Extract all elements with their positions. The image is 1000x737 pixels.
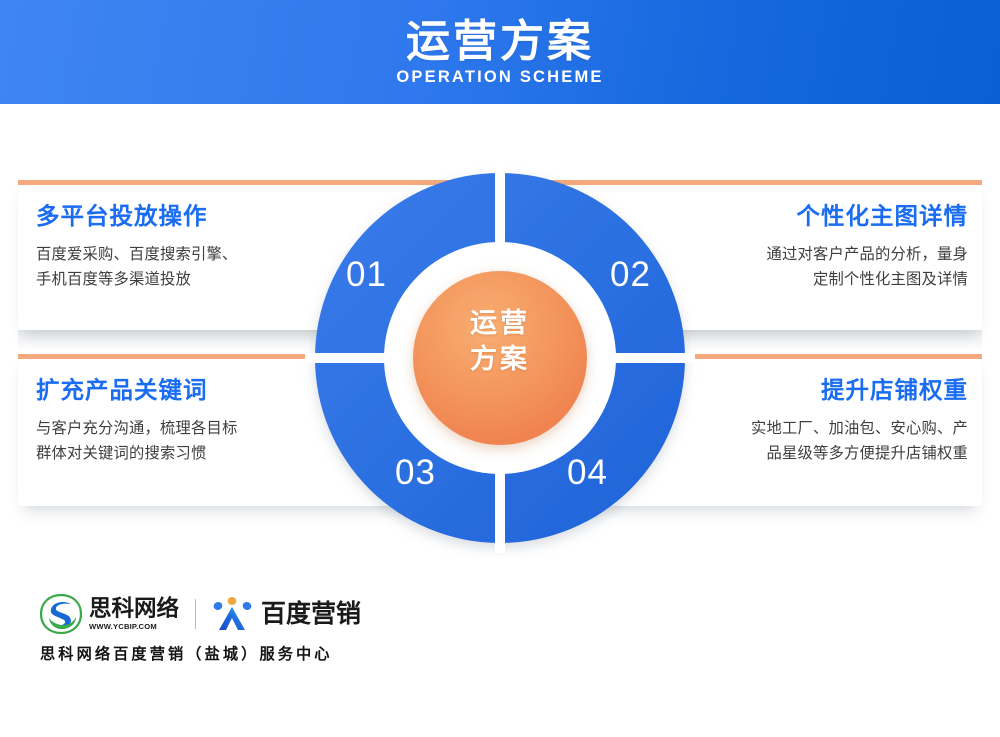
card-description-line: 定制个性化主图及详情 xyxy=(666,268,968,293)
diagram-stage: 多平台投放操作 百度爱采购、百度搜索引擎、 手机百度等多渠道投放 个性化主图详情… xyxy=(0,104,1000,737)
footer-branding: 思科网络 WWW.YCBIP.COM 百度营销 思科网络百度 xyxy=(40,592,470,664)
card-heading: 多平台投放操作 xyxy=(36,204,338,230)
sike-wordmark: 思科网络 WWW.YCBIP.COM xyxy=(89,597,179,631)
quadrant-number-03: 03 xyxy=(395,455,436,490)
quadrant-number-01: 01 xyxy=(346,257,387,292)
sike-brand-name: 思科网络 xyxy=(89,597,179,621)
sike-brand-url: WWW.YCBIP.COM xyxy=(89,622,179,631)
card-description-line: 手机百度等多渠道投放 xyxy=(36,268,338,293)
card-description-line: 与客户充分沟通，梳理各目标 xyxy=(36,417,338,442)
baidu-brand-name: 百度营销 xyxy=(261,602,361,627)
card-description: 通过对客户产品的分析，量身 定制个性化主图及详情 xyxy=(666,243,968,293)
card-body: 个性化主图详情 通过对客户产品的分析，量身 定制个性化主图及详情 xyxy=(666,204,968,292)
card-description-line: 通过对客户产品的分析，量身 xyxy=(666,243,968,268)
card-body: 多平台投放操作 百度爱采购、百度搜索引擎、 手机百度等多渠道投放 xyxy=(36,204,338,292)
card-description: 与客户充分沟通，梳理各目标 群体对关键词的搜索习惯 xyxy=(36,417,338,467)
donut-core-label: 运营 方案 xyxy=(450,305,550,378)
card-description-line: 百度爱采购、百度搜索引擎、 xyxy=(36,243,338,268)
footer-logo-row: 思科网络 WWW.YCBIP.COM 百度营销 xyxy=(40,592,470,636)
quadrant-number-02: 02 xyxy=(610,257,651,292)
quadrant-number-04: 04 xyxy=(567,455,608,490)
donut-diagram: 01 02 03 04 运营 方案 xyxy=(299,157,701,559)
card-description: 百度爱采购、百度搜索引擎、 手机百度等多渠道投放 xyxy=(36,243,338,293)
donut-core-label-line1: 运营 xyxy=(450,305,550,341)
card-heading: 扩充产品关键词 xyxy=(36,378,338,404)
page-title: 运营方案 xyxy=(406,18,594,66)
page-header: 运营方案 OPERATION SCHEME xyxy=(0,0,1000,104)
card-heading: 个性化主图详情 xyxy=(666,204,968,230)
sike-swirl-logo-icon xyxy=(40,594,82,634)
footer-service-center-label: 思科网络百度营销（盐城）服务中心 xyxy=(40,646,470,664)
logo-separator xyxy=(195,599,196,629)
page-subtitle-en: OPERATION SCHEME xyxy=(396,69,603,86)
card-description-line: 群体对关键词的搜索习惯 xyxy=(36,442,338,467)
donut-core-label-line2: 方案 xyxy=(450,341,550,377)
card-body: 扩充产品关键词 与客户充分沟通，梳理各目标 群体对关键词的搜索习惯 xyxy=(36,378,338,466)
baidu-bear-logo-icon xyxy=(210,596,255,632)
